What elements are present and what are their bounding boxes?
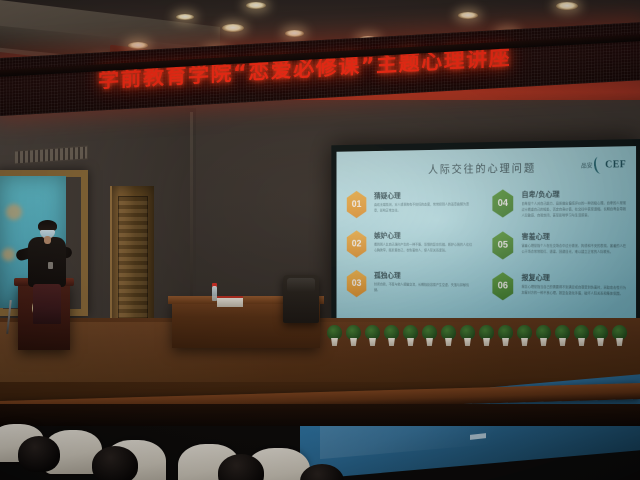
wooden-door[interactable] xyxy=(110,186,154,338)
ceiling-light xyxy=(246,2,266,9)
ceiling-light xyxy=(128,42,148,49)
presenter-torso xyxy=(28,237,66,287)
presenter-hand xyxy=(44,236,51,244)
presenter-skirt xyxy=(33,284,61,324)
audience-head xyxy=(92,446,138,480)
presentation-slide: 人际交往的心理问题 品安 CEF 01 猜疑心理 喜欢无端猜测，对人或事抱有不信… xyxy=(337,146,637,329)
presenter-badge xyxy=(48,262,53,269)
ceiling-light xyxy=(176,14,194,20)
potted-plant-row xyxy=(330,306,640,346)
door-panel xyxy=(118,196,148,328)
lecture-hall-photo: 学前教育学院“恋爱必修课”主题心理讲座 人际交往的心理问题 品安 CEF 01 … xyxy=(0,0,640,480)
audience-head xyxy=(18,436,60,472)
ceiling-light xyxy=(222,24,244,32)
ceiling-light xyxy=(556,2,578,10)
audience-foreground xyxy=(0,408,640,480)
chair-highlight xyxy=(287,278,315,292)
ceiling-light xyxy=(285,30,304,37)
presenter xyxy=(18,222,74,326)
nameplate xyxy=(217,296,243,307)
ceiling-light xyxy=(458,12,478,19)
slide-vignette xyxy=(337,146,637,329)
